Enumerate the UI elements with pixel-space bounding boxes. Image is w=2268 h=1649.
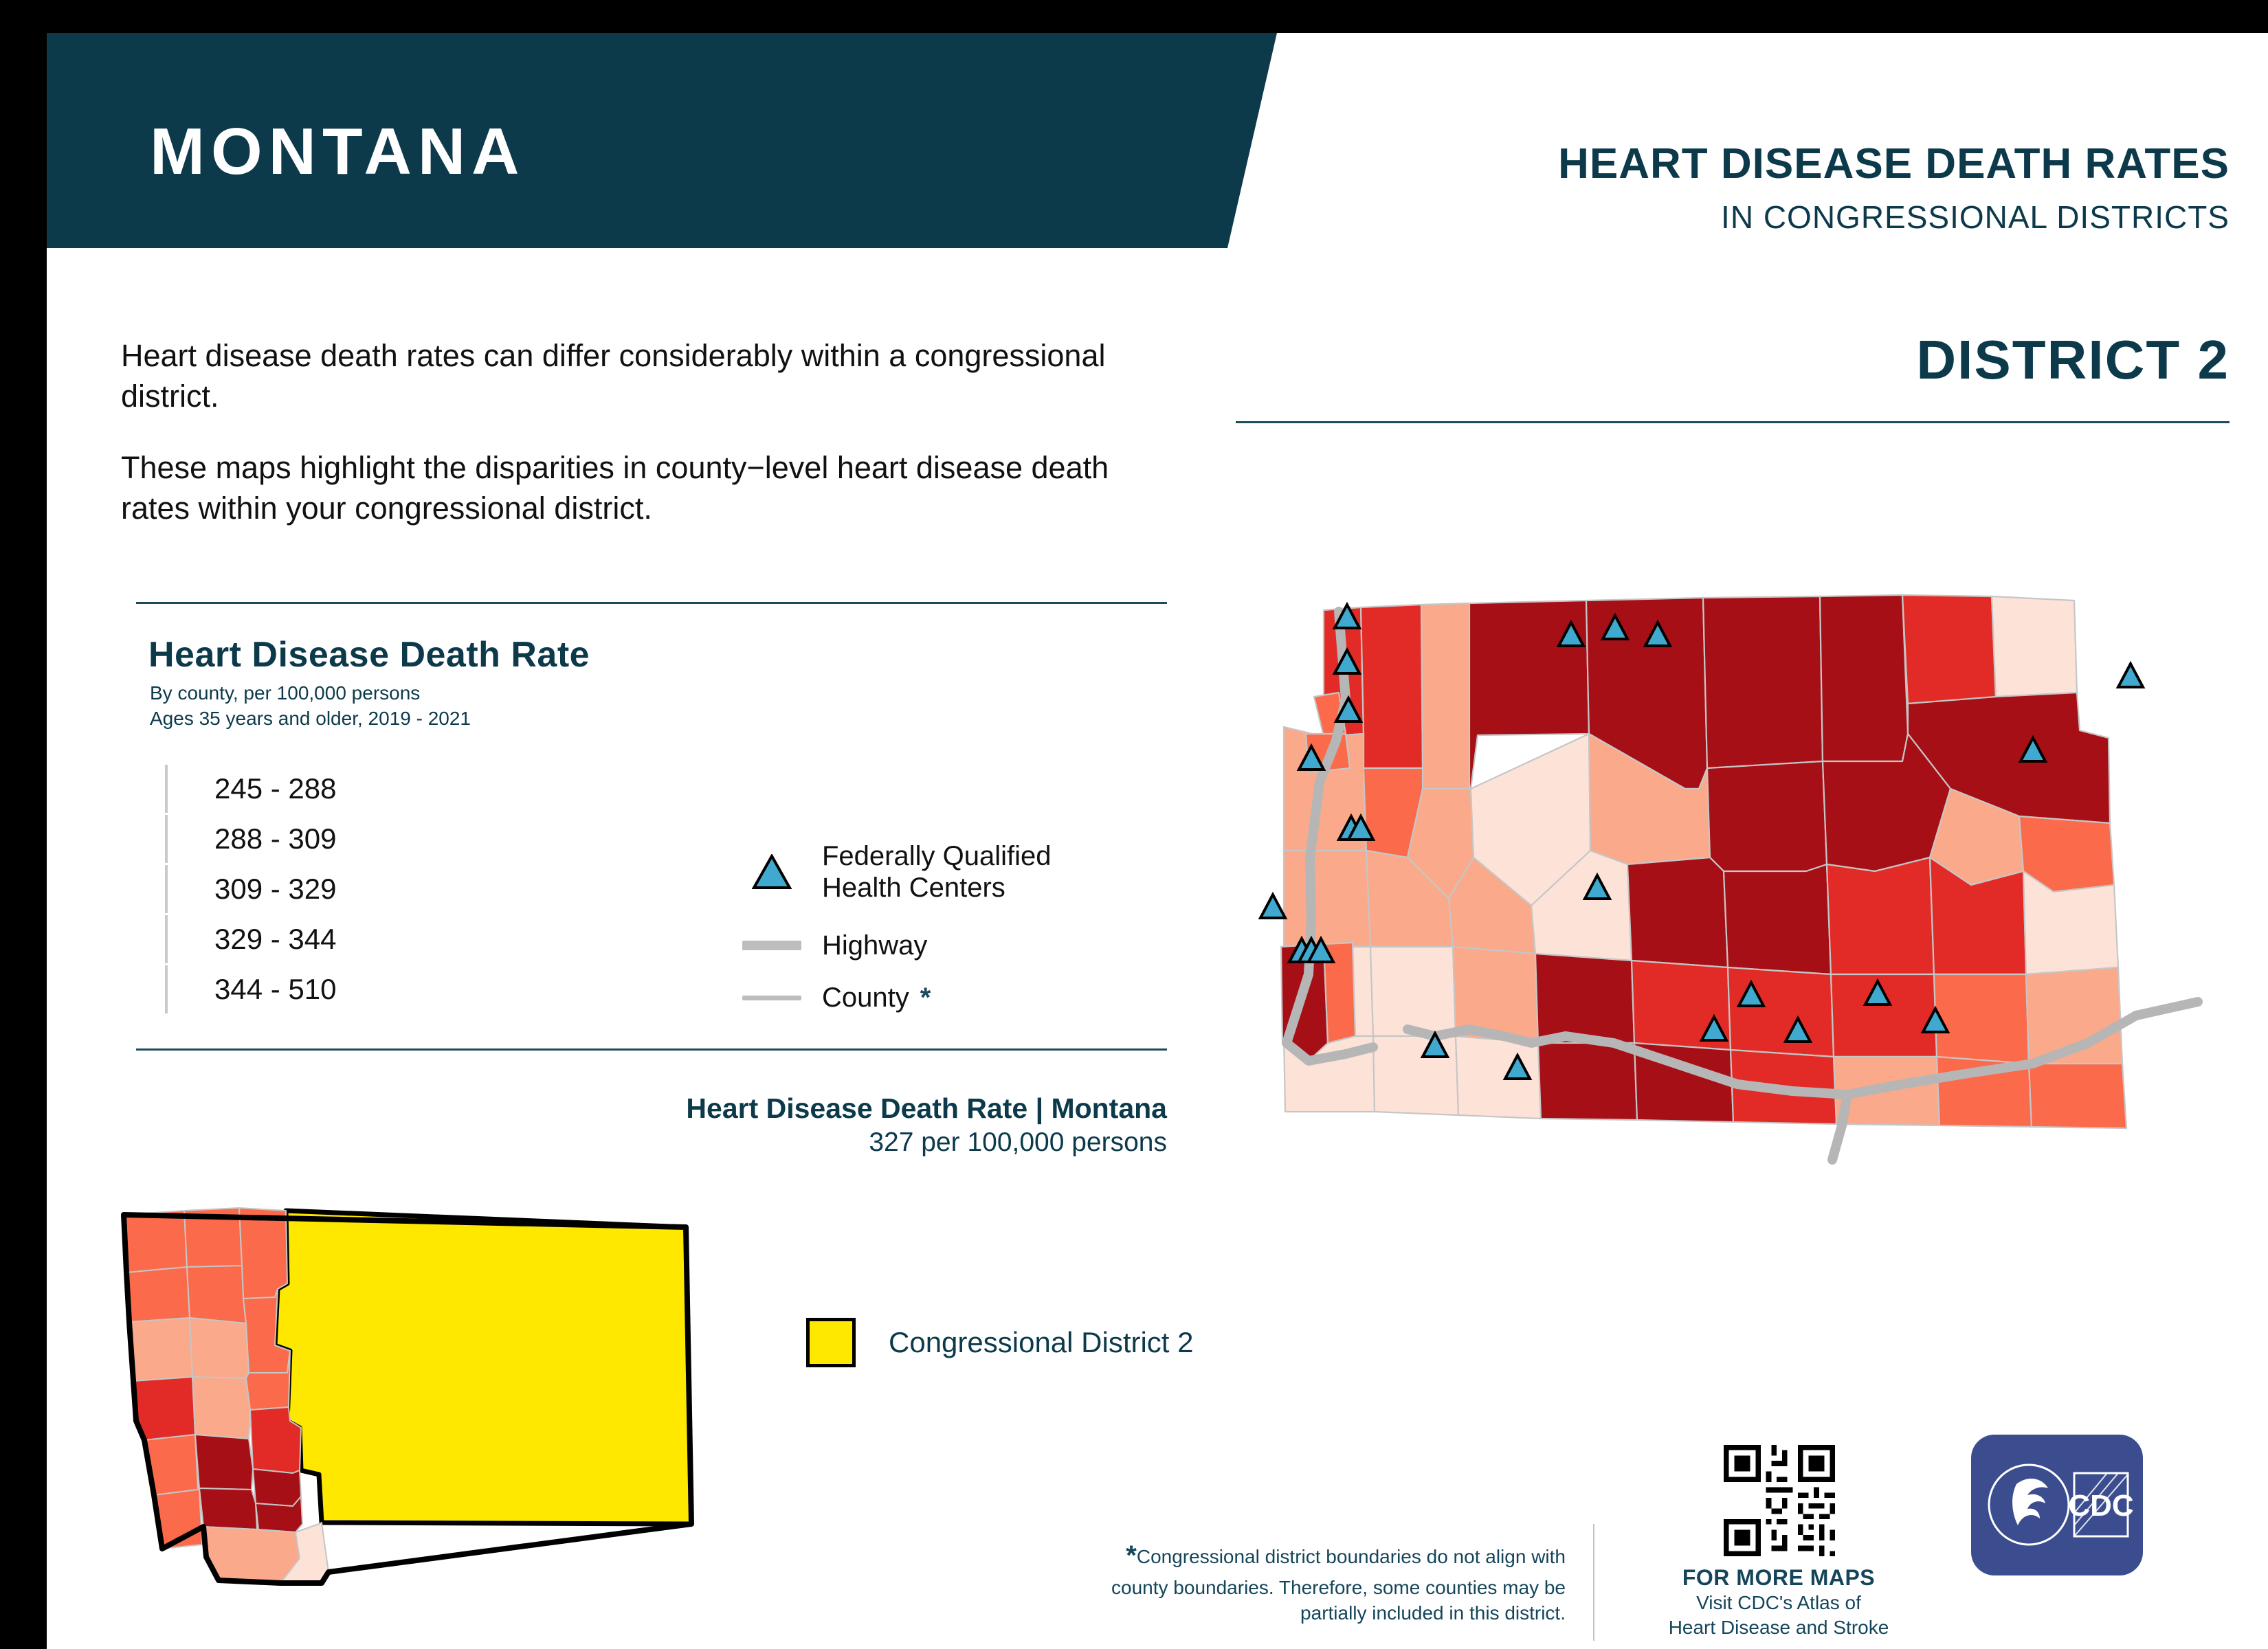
inset-county	[126, 1267, 190, 1322]
legend-class-row[interactable]: 329 - 344	[165, 914, 220, 964]
district-swatch	[806, 1318, 856, 1367]
inset-county	[239, 1208, 287, 1299]
legend-label-0: 245 - 288	[214, 772, 336, 805]
state-rate-value: 327 per 100,000 persons	[47, 1126, 1167, 1160]
fqhc-marker	[1260, 895, 1285, 918]
page-subtitle: IN CONGRESSIONAL DISTRICTS	[1721, 201, 2230, 233]
county	[1827, 857, 1934, 974]
legend-class-row[interactable]: 245 - 288	[165, 763, 220, 814]
county	[1535, 954, 1634, 1043]
county	[2029, 1064, 2126, 1128]
legend-swatch-4	[165, 965, 168, 1013]
county	[1934, 974, 2029, 1064]
county	[1831, 974, 1937, 1057]
county	[1421, 603, 1471, 789]
county	[1992, 596, 2077, 699]
county	[1703, 596, 1823, 768]
county-asterisk: *	[920, 982, 931, 1013]
inset-county	[253, 1469, 301, 1506]
county	[1820, 595, 1908, 761]
qr-code-icon[interactable]	[1724, 1445, 1835, 1556]
footnote-asterisk: *	[1126, 1540, 1137, 1571]
intro-text: Heart disease death rates can differ con…	[121, 335, 1124, 529]
more-maps-title: FOR MORE MAPS	[1634, 1565, 1923, 1591]
county	[1373, 1036, 1458, 1115]
main-district-map[interactable]	[1243, 562, 2232, 1167]
footer-divider	[1593, 1524, 1594, 1641]
inset-county	[199, 1488, 257, 1529]
legend-county-label: County	[822, 982, 909, 1013]
legend-subtitle-line-1: By county, per 100,000 persons	[150, 681, 471, 706]
color-ramp: 245 - 288 288 - 309 309 - 329 329 - 344 …	[165, 763, 220, 1014]
legend-divider-bottom	[136, 1048, 1167, 1051]
cdc-logo[interactable]: CDC	[1971, 1435, 2143, 1575]
legend-label-4: 344 - 510	[214, 973, 336, 1006]
district-swatch-label: Congressional District 2	[889, 1326, 1194, 1359]
county	[1707, 761, 1827, 871]
inset-county	[124, 1211, 187, 1272]
inset-county	[192, 1377, 250, 1439]
county	[1627, 857, 1728, 967]
county	[1538, 1043, 1637, 1120]
highway-line-icon	[734, 941, 810, 950]
legend-subtitle-line-2: Ages 35 years and older, 2019 - 2021	[150, 706, 471, 732]
state-title: MONTANA	[150, 119, 525, 185]
inset-county	[190, 1318, 249, 1378]
county	[1724, 864, 1831, 974]
legend-swatch-3	[165, 915, 168, 963]
page-title: HEART DISEASE DEATH RATES	[1558, 143, 2230, 186]
svg-text:CDC: CDC	[2068, 1489, 2133, 1523]
inset-county	[195, 1435, 253, 1490]
legend-highway-label: Highway	[822, 930, 927, 961]
state-rate-title: Heart Disease Death Rate | Montana	[47, 1091, 1167, 1126]
legend-divider-top	[136, 602, 1167, 604]
intro-paragraph-2: These maps highlight the disparities in …	[121, 447, 1124, 529]
intro-paragraph-1: Heart disease death rates can differ con…	[121, 335, 1124, 417]
legend-swatch-0	[165, 765, 168, 813]
legend-label-1: 288 - 309	[214, 822, 336, 855]
county-line-icon	[734, 996, 810, 1000]
poster-page: MONTANA HEART DISEASE DEATH RATES IN CON…	[47, 33, 2268, 1649]
state-inset-map[interactable]	[115, 1201, 720, 1586]
legend-class-row[interactable]: 288 - 309	[165, 814, 220, 864]
legend-item-county[interactable]: County *	[734, 982, 1052, 1013]
county	[1902, 595, 1996, 704]
district-divider	[1236, 421, 2230, 423]
legend-item-fqhc[interactable]: Federally Qualified Health Centers	[734, 840, 1052, 904]
legend-item-highway[interactable]: Highway	[734, 930, 1052, 961]
fqhc-triangle-icon	[734, 854, 810, 890]
legend-subtitle: By county, per 100,000 persons Ages 35 y…	[150, 681, 471, 732]
legend-label-3: 329 - 344	[214, 923, 336, 956]
legend-label-2: 309 - 329	[214, 873, 336, 906]
footnote: *Congressional district boundaries do no…	[1098, 1538, 1566, 1626]
legend-swatch-2	[165, 865, 168, 913]
legend-class-row[interactable]: 309 - 329	[165, 864, 220, 914]
inset-county	[187, 1266, 246, 1323]
county	[1284, 851, 1370, 947]
county	[1728, 967, 1834, 1057]
more-maps-line-2: Heart Disease and Stroke	[1634, 1615, 1923, 1640]
legend-item-district[interactable]: Congressional District 2	[806, 1318, 1194, 1367]
symbol-legend: Federally Qualified Health Centers Highw…	[734, 840, 1052, 1040]
county	[1361, 605, 1423, 768]
district-label: DISTRICT 2	[1916, 328, 2230, 392]
more-maps-line-1: Visit CDC's Atlas of	[1634, 1591, 1923, 1615]
legend-fqhc-line-1: Federally Qualified	[822, 840, 1052, 872]
district-2-area	[275, 1211, 691, 1524]
legend-swatch-1	[165, 815, 168, 863]
legend-fqhc-line-2: Health Centers	[822, 872, 1052, 904]
inset-county	[129, 1318, 192, 1381]
state-rate-block: Heart Disease Death Rate | Montana 327 p…	[47, 1091, 1167, 1160]
county	[1370, 947, 1456, 1036]
fqhc-marker	[2118, 664, 2143, 687]
more-maps-block: FOR MORE MAPS Visit CDC's Atlas of Heart…	[1634, 1565, 1923, 1641]
legend-title: Heart Disease Death Rate	[148, 634, 590, 675]
legend-class-row[interactable]: 344 - 510	[165, 964, 220, 1014]
footnote-text: Congressional district boundaries do not…	[1111, 1546, 1566, 1624]
